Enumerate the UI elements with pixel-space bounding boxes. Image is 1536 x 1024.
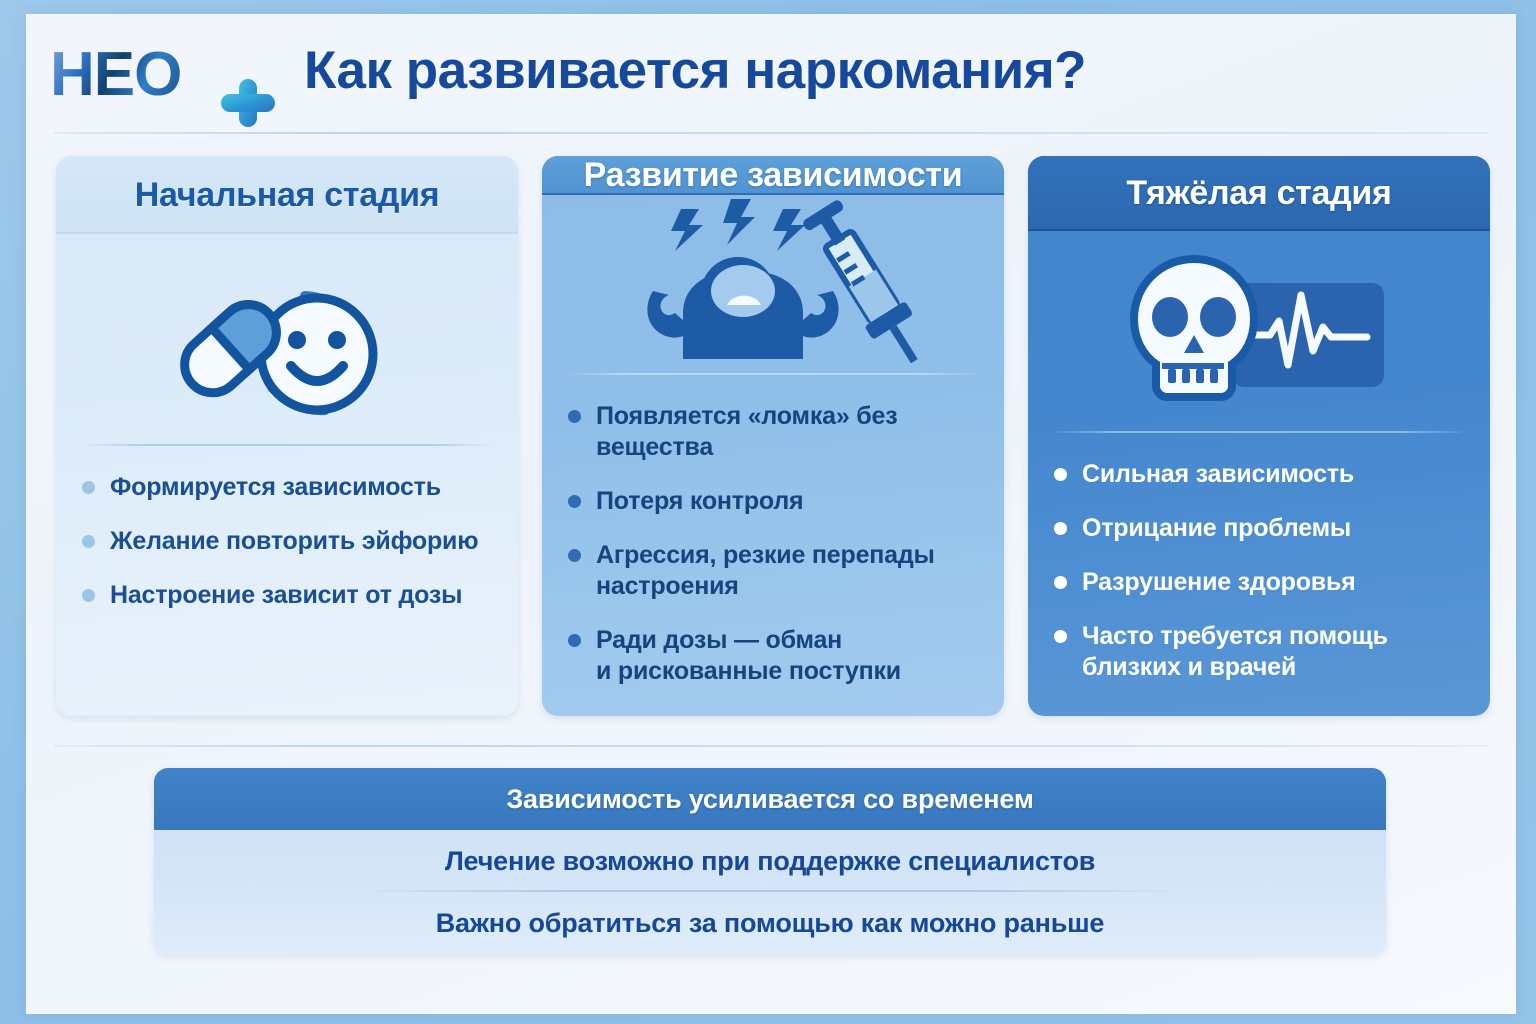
card-icon-divider-severe <box>1056 431 1462 433</box>
bullet-label: Разрушение здоровья <box>1082 567 1356 598</box>
summary-header: Зависимость усиливается со временем <box>154 768 1386 830</box>
card-header-initial: Начальная стадия <box>56 156 518 234</box>
card-bullets-development: Появляется «ломка» без вещества Потеря к… <box>542 375 1004 716</box>
brand-plus-icon <box>218 76 278 130</box>
bullet-dot-icon <box>82 589 95 602</box>
card-bullets-initial: Формируется зависимость Желание повторит… <box>56 446 518 716</box>
header-divider <box>54 132 1488 134</box>
bullet-label: Формируется зависимость <box>110 472 441 503</box>
summary-line-2: Важно обратиться за помощью как можно ра… <box>436 908 1105 939</box>
brand-logo: НЕО <box>50 42 280 108</box>
card-icon-area-initial <box>56 234 518 446</box>
pill-smiley-cycle-icon <box>157 250 417 430</box>
card-icon-area-development <box>542 195 1004 375</box>
bullet-dot-icon <box>1054 630 1067 643</box>
page-header: НЕО Как развивается наркомания? <box>26 14 1516 134</box>
list-item: Часто требуется помощь близких и врачей <box>1054 621 1464 683</box>
bullet-dot-icon <box>568 410 581 423</box>
summary-row-urgency: Важно обратиться за помощью как можно ра… <box>154 892 1386 954</box>
card-title-development: Развитие зависимости <box>584 156 963 195</box>
card-title-initial: Начальная стадия <box>135 176 440 215</box>
bullet-dot-icon <box>1054 468 1067 481</box>
bullet-label: Отрицание проблемы <box>1082 513 1351 544</box>
card-title-severe: Тяжёлая стадия <box>1126 174 1391 213</box>
card-header-severe: Тяжёлая стадия <box>1028 156 1490 231</box>
bullet-dot-icon <box>82 481 95 494</box>
stage-card-initial[interactable]: Начальная стадия <box>56 156 518 716</box>
infographic-panel: НЕО Как развивается наркомания? <box>26 14 1516 1014</box>
brand-logo-text: НЕО <box>50 42 181 108</box>
list-item: Разрушение здоровья <box>1054 567 1464 598</box>
stressed-person-syringe-icon <box>623 195 923 375</box>
page-title: Как развивается наркомания? <box>304 40 1086 101</box>
bullet-dot-icon <box>568 549 581 562</box>
list-item: Агрессия, резкие перепады настроения <box>568 540 978 602</box>
list-item: Ради дозы — обман и рискованные поступки <box>568 625 978 687</box>
bullet-label: Ради дозы — обман и рискованные поступки <box>596 625 901 687</box>
footer-divider-top <box>54 745 1488 747</box>
bullet-label: Часто требуется помощь близких и врачей <box>1082 621 1388 683</box>
bullet-dot-icon <box>1054 576 1067 589</box>
bullet-label: Потеря контроля <box>596 486 803 517</box>
bullet-dot-icon <box>82 535 95 548</box>
stage-cards: Начальная стадия <box>56 156 1490 716</box>
stage-card-development[interactable]: Развитие зависимости <box>542 156 1004 716</box>
summary-panel: Зависимость усиливается со временем Лече… <box>154 768 1386 954</box>
list-item: Появляется «ломка» без вещества <box>568 401 978 463</box>
list-item: Отрицание проблемы <box>1054 513 1464 544</box>
list-item: Настроение зависит от дозы <box>82 580 492 611</box>
bullet-dot-icon <box>1054 522 1067 535</box>
bullet-label: Желание повторить эйфорию <box>110 526 478 557</box>
card-icon-area-severe <box>1028 231 1490 434</box>
list-item: Сильная зависимость <box>1054 459 1464 490</box>
summary-headline: Зависимость усиливается со временем <box>506 784 1033 815</box>
summary-line-1: Лечение возможно при поддержке специалис… <box>445 846 1095 877</box>
skull-ecg-monitor-icon <box>1124 247 1394 417</box>
page-frame: НЕО Как развивается наркомания? <box>0 0 1536 1024</box>
card-icon-divider-initial <box>84 444 490 446</box>
bullet-label: Настроение зависит от дозы <box>110 580 462 611</box>
bullet-dot-icon <box>568 634 581 647</box>
list-item: Формируется зависимость <box>82 472 492 503</box>
card-icon-divider-development <box>570 373 976 375</box>
card-header-development: Развитие зависимости <box>542 156 1004 195</box>
bullet-label: Появляется «ломка» без вещества <box>596 401 978 463</box>
list-item: Потеря контроля <box>568 486 978 517</box>
summary-row-treatment: Лечение возможно при поддержке специалис… <box>154 830 1386 892</box>
list-item: Желание повторить эйфорию <box>82 526 492 557</box>
card-bullets-severe: Сильная зависимость Отрицание проблемы Р… <box>1028 433 1490 716</box>
bullet-label: Агрессия, резкие перепады настроения <box>596 540 978 602</box>
stage-card-severe[interactable]: Тяжёлая стадия <box>1028 156 1490 716</box>
bullet-dot-icon <box>568 495 581 508</box>
bullet-label: Сильная зависимость <box>1082 459 1354 490</box>
